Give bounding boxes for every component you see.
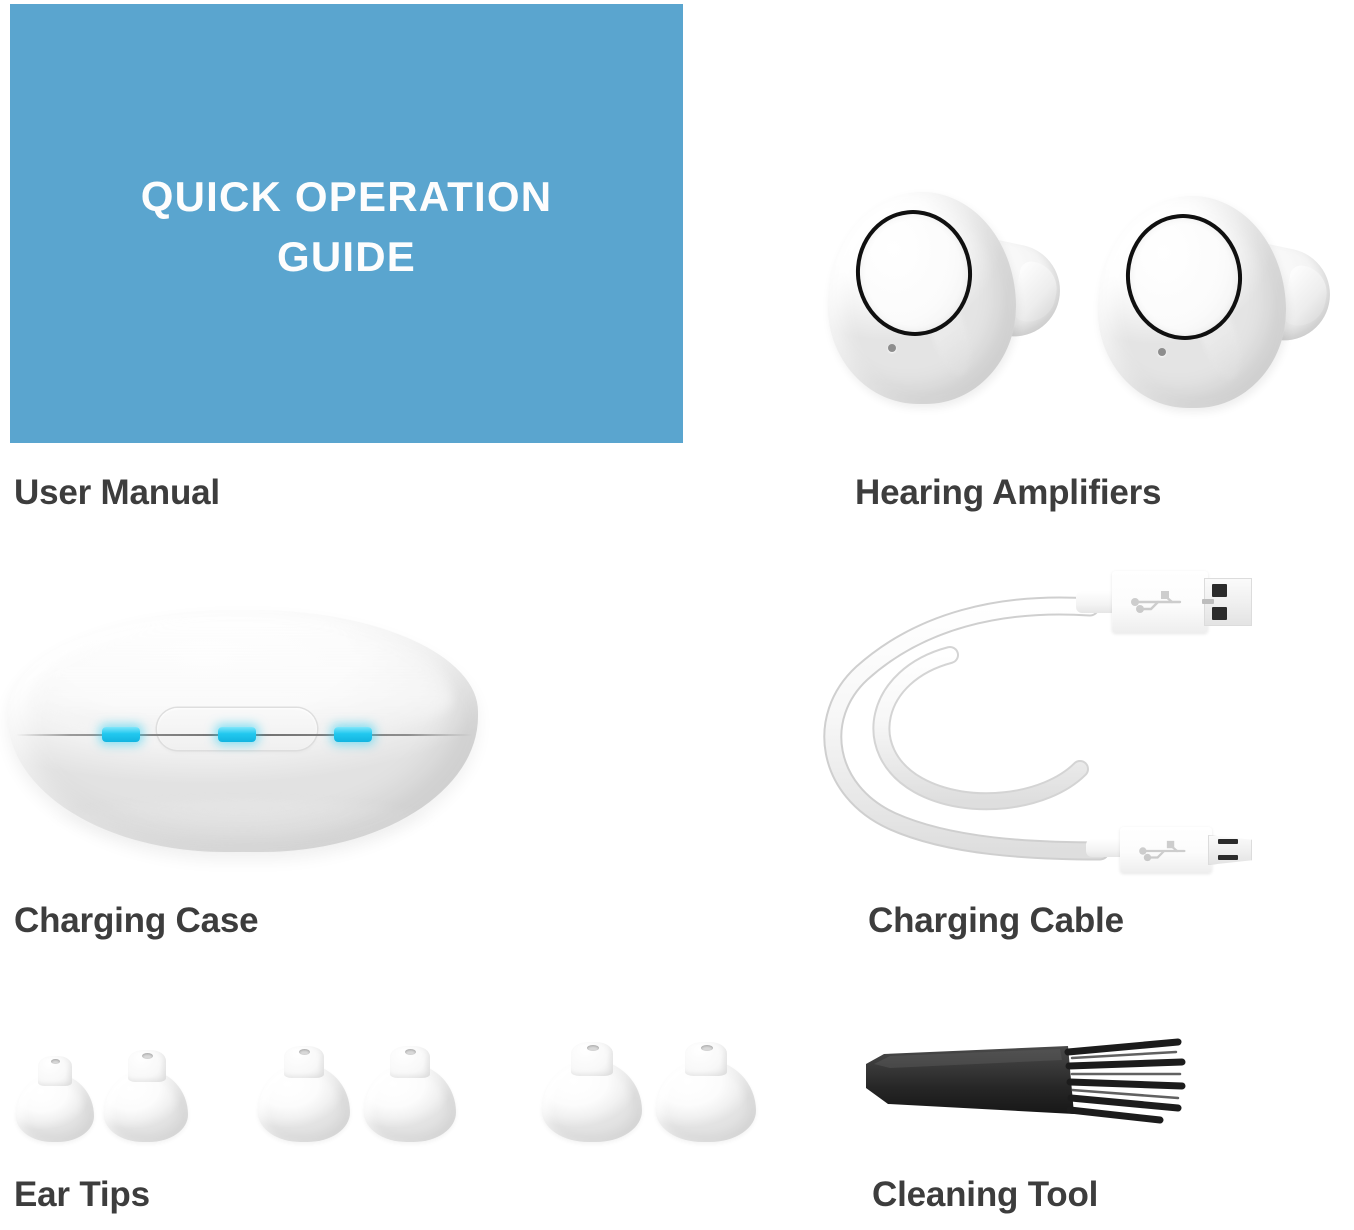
package-contents-sheet: QUICK OPERATION GUIDE User Manual Hearin… <box>0 0 1354 1230</box>
charging-case-led-1 <box>102 727 140 742</box>
ear-tip-large-a <box>542 1042 642 1142</box>
usb-a-contact-pad-1 <box>1212 584 1227 597</box>
charging-case-art <box>8 610 478 860</box>
usb-a-contact-pad-2 <box>1212 607 1227 620</box>
ear-tip-bore <box>142 1053 153 1059</box>
charging-cable-art <box>800 555 1260 885</box>
charging-case-led-3 <box>334 727 372 742</box>
label-charging-case: Charging Case <box>14 903 258 938</box>
label-user-manual: User Manual <box>14 475 220 510</box>
usb-trident-icon <box>1136 839 1194 863</box>
ear-tip-bore <box>587 1045 599 1051</box>
ear-tip-small-a <box>16 1056 94 1142</box>
ear-tip-large-b <box>656 1042 756 1142</box>
ear-tip-small-b <box>104 1050 188 1142</box>
cleaning-tool-art <box>860 1038 1190 1128</box>
label-cleaning-tool: Cleaning Tool <box>872 1177 1098 1212</box>
micro-usb-contact-pad-1 <box>1218 839 1238 844</box>
micro-usb-contact-pad-2 <box>1218 855 1238 860</box>
usb-a-connector <box>1076 567 1252 637</box>
user-manual-cover-title: QUICK OPERATION GUIDE <box>10 167 683 286</box>
ear-tip-bore <box>701 1045 713 1051</box>
usb-a-metal-tip <box>1204 578 1252 626</box>
ear-tip-bore <box>51 1059 60 1064</box>
label-hearing-amplifiers: Hearing Amplifiers <box>855 475 1161 510</box>
micro-usb-connector <box>1086 819 1254 881</box>
user-manual-cover: QUICK OPERATION GUIDE <box>10 4 683 443</box>
usb-trident-icon <box>1128 589 1190 615</box>
label-ear-tips: Ear Tips <box>14 1177 150 1212</box>
charging-case-base-shading <box>38 800 448 852</box>
ear-tip-bore <box>405 1049 416 1055</box>
earbud-mic-hole <box>1158 348 1166 356</box>
earbud-left <box>828 192 1058 407</box>
earbud-right <box>1098 196 1328 411</box>
charging-case-led-2 <box>218 727 256 742</box>
label-charging-cable: Charging Cable <box>868 903 1124 938</box>
micro-usb-metal-tip <box>1208 835 1252 865</box>
ear-tip-medium-b <box>364 1046 456 1142</box>
ear-tip-medium-a <box>258 1046 350 1142</box>
ear-tip-bore <box>299 1049 310 1055</box>
usb-a-contact-slot <box>1202 599 1214 604</box>
earbud-mic-hole <box>888 344 896 352</box>
